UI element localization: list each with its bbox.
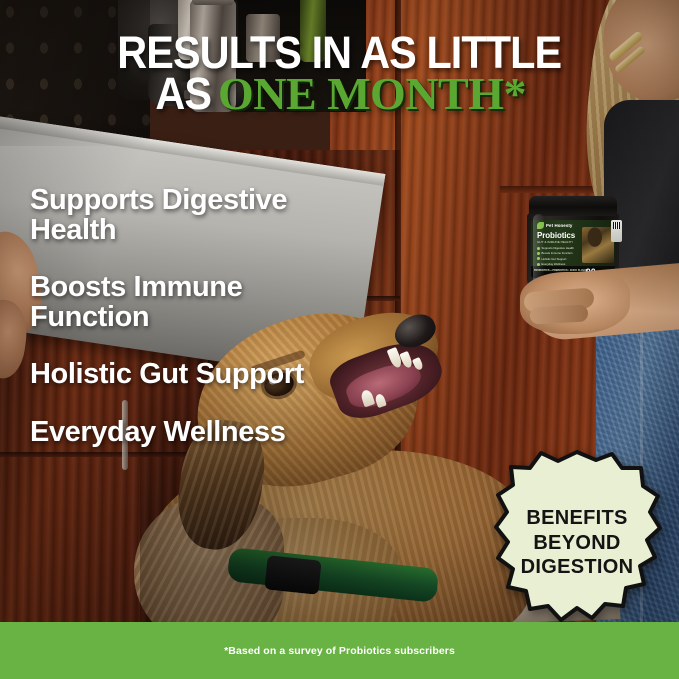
jar-gloss-highlight (533, 214, 545, 284)
jar-bullet-text: Holistic Gut Support (542, 257, 567, 261)
headline-line-2: AS ONE MONTH* (0, 73, 679, 115)
headline: RESULTS IN AS LITTLE AS ONE MONTH* (0, 32, 679, 116)
footer-band: *Based on a survey of Probiotics subscri… (0, 622, 679, 679)
jar-brand-name: Pet Honesty (546, 223, 572, 228)
product-benefits-ad: Pet Honesty Probiotics GUT & IMMUNE HEAL… (0, 0, 679, 679)
benefit-item-gut-support: Holistic Gut Support (30, 360, 360, 390)
badge-text-block: BENEFITS BEYOND DIGESTION (492, 448, 662, 638)
benefits-beyond-digestion-badge: BENEFITS BEYOND DIGESTION (492, 448, 662, 638)
footer-disclaimer: *Based on a survey of Probiotics subscri… (224, 645, 455, 657)
benefit-list: Supports Digestive Health Boosts Immune … (30, 186, 360, 475)
badge-line-3: DIGESTION (521, 556, 634, 578)
benefit-item-immune-function: Boosts Immune Function (30, 273, 360, 332)
jar-bullet-text: Supports Digestive Health (542, 246, 574, 250)
jar-label-dog-photo (582, 227, 614, 263)
benefit-item-everyday-wellness: Everyday Wellness (30, 418, 360, 448)
badge-line-2: BEYOND (533, 532, 620, 554)
headline-line-2-white-text: AS (155, 73, 211, 114)
badge-line-1: BENEFITS (526, 507, 627, 529)
jar-bullet-text: Boosts Immune Function (542, 251, 573, 255)
jar-lid (529, 196, 617, 216)
headline-line-1-text: RESULTS IN AS LITTLE (118, 32, 562, 73)
benefit-item-digestive-health: Supports Digestive Health (30, 186, 360, 245)
headline-line-1: RESULTS IN AS LITTLE (0, 32, 679, 73)
jar-side-barcode-tag (611, 220, 622, 242)
